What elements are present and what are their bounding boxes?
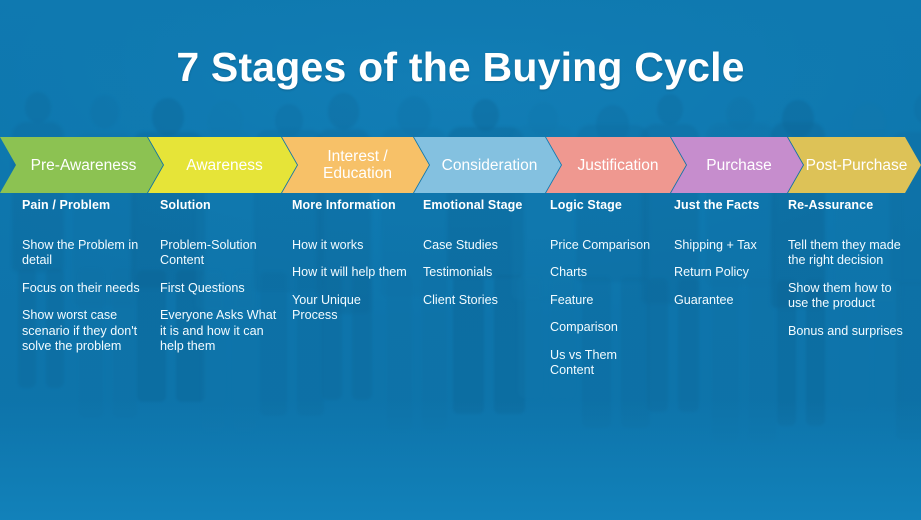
stage-chevron-1[interactable]: Pre-Awareness: [0, 137, 163, 193]
stage-column-5: Logic StagePrice ComparisonChartsFeature…: [550, 198, 662, 390]
list-item: Price Comparison: [550, 238, 662, 253]
column-header: Pain / Problem: [22, 198, 147, 212]
list-item: First Questions: [160, 281, 280, 296]
list-item: Show them how to use the product: [788, 281, 906, 312]
column-header: Just the Facts: [674, 198, 779, 212]
stage-chevron-label: Awareness: [172, 157, 272, 174]
stage-chevron-label: Pre-Awareness: [17, 157, 147, 174]
column-header: Solution: [160, 198, 280, 212]
list-item: Charts: [550, 265, 662, 280]
column-item-list: Shipping + TaxReturn PolicyGuarantee: [674, 238, 779, 308]
list-item: Problem-Solution Content: [160, 238, 280, 269]
stage-column-7: Re-AssuranceTell them they made the righ…: [788, 198, 906, 351]
stage-chevron-7[interactable]: Post-Purchase: [788, 137, 921, 193]
stage-column-3: More InformationHow it worksHow it will …: [292, 198, 407, 336]
page-title: 7 Stages of the Buying Cycle: [0, 44, 921, 91]
stage-chevron-2[interactable]: Awareness: [148, 137, 297, 193]
column-item-list: How it worksHow it will help themYour Un…: [292, 238, 407, 324]
list-item: Comparison: [550, 320, 662, 335]
column-header: Re-Assurance: [788, 198, 906, 212]
list-item: Case Studies: [423, 238, 538, 253]
stage-chevron-label: Post-Purchase: [792, 157, 918, 174]
stage-chevron-band: Pre-AwarenessAwarenessInterest /Educatio…: [0, 137, 921, 193]
list-item: Show the Problem in detail: [22, 238, 147, 269]
stage-chevron-label: Justification: [564, 157, 669, 174]
stage-column-2: SolutionProblem-Solution ContentFirst Qu…: [160, 198, 280, 366]
list-item: Client Stories: [423, 293, 538, 308]
list-item: Shipping + Tax: [674, 238, 779, 253]
stage-chevron-label: Purchase: [692, 157, 781, 174]
stage-chevron-label: Interest /Education: [309, 148, 402, 182]
list-item: Return Policy: [674, 265, 779, 280]
column-item-list: Show the Problem in detailFocus on their…: [22, 238, 147, 354]
stage-columns: Pain / ProblemShow the Problem in detail…: [0, 198, 921, 448]
column-item-list: Case StudiesTestimonialsClient Stories: [423, 238, 538, 308]
stage-column-1: Pain / ProblemShow the Problem in detail…: [22, 198, 147, 366]
list-item: Feature: [550, 293, 662, 308]
stage-column-4: Emotional StageCase StudiesTestimonialsC…: [423, 198, 538, 320]
infographic-canvas: 7 Stages of the Buying Cycle Pre-Awarene…: [0, 0, 921, 520]
stage-chevron-6[interactable]: Purchase: [671, 137, 803, 193]
list-item: Everyone Asks What it is and how it can …: [160, 308, 280, 354]
list-item: Us vs Them Content: [550, 348, 662, 379]
list-item: Your Unique Process: [292, 293, 407, 324]
list-item: Bonus and surprises: [788, 324, 906, 339]
list-item: Focus on their needs: [22, 281, 147, 296]
column-header: Emotional Stage: [423, 198, 538, 212]
stage-chevron-3[interactable]: Interest /Education: [282, 137, 429, 193]
stage-chevron-label: Consideration: [428, 157, 548, 174]
column-item-list: Price ComparisonChartsFeatureComparisonU…: [550, 238, 662, 378]
stage-chevron-4[interactable]: Consideration: [414, 137, 561, 193]
column-header: More Information: [292, 198, 407, 212]
list-item: Tell them they made the right decision: [788, 238, 906, 269]
stage-chevron-5[interactable]: Justification: [546, 137, 686, 193]
list-item: Show worst case scenario if they don't s…: [22, 308, 147, 354]
column-item-list: Tell them they made the right decisionSh…: [788, 238, 906, 339]
list-item: How it works: [292, 238, 407, 253]
column-item-list: Problem-Solution ContentFirst QuestionsE…: [160, 238, 280, 354]
stage-column-6: Just the FactsShipping + TaxReturn Polic…: [674, 198, 779, 320]
list-item: Guarantee: [674, 293, 779, 308]
column-header: Logic Stage: [550, 198, 662, 212]
list-item: Testimonials: [423, 265, 538, 280]
list-item: How it will help them: [292, 265, 407, 280]
